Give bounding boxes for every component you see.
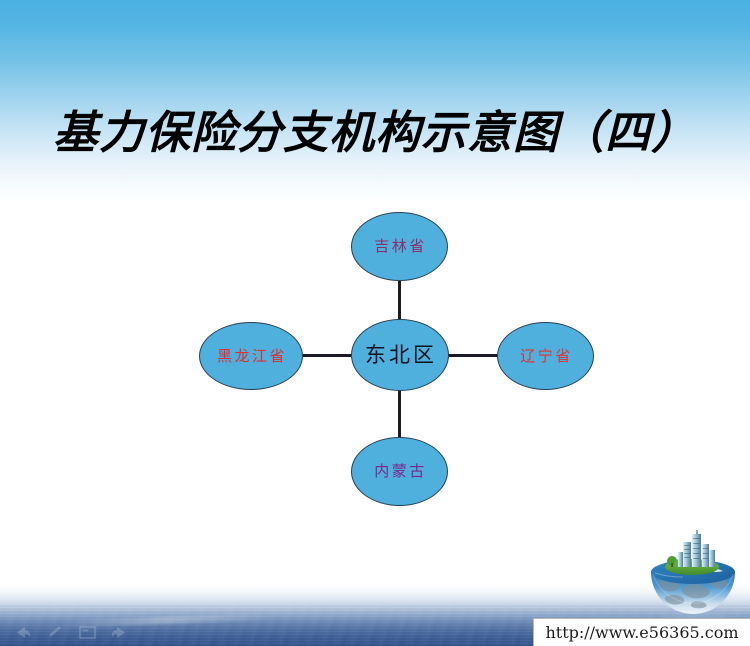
previous-slide-icon[interactable] <box>12 624 34 640</box>
slideshow-nav-controls <box>12 624 130 640</box>
watermark-bar: http://www.e56365.com <box>533 618 750 646</box>
slide-menu-icon[interactable] <box>76 624 98 640</box>
node-label-bottom: 内蒙古 <box>372 464 427 479</box>
org-diagram: 吉林省 黑龙江省 东北区 辽宁省 内蒙古 <box>0 0 750 646</box>
node-top-jilin[interactable]: 吉林省 <box>351 212 448 281</box>
node-label-left: 黑龙江省 <box>215 349 287 364</box>
node-bottom-inner-mongolia[interactable]: 内蒙古 <box>351 437 448 506</box>
node-center-northeast-region[interactable]: 东北区 <box>351 319 449 391</box>
node-label-center: 东北区 <box>363 345 437 366</box>
earth-city-globe-logo <box>645 528 741 620</box>
next-slide-icon[interactable] <box>108 624 130 640</box>
node-label-right: 辽宁省 <box>518 349 573 364</box>
node-right-liaoning[interactable]: 辽宁省 <box>497 322 594 390</box>
node-left-heilongjiang[interactable]: 黑龙江省 <box>199 322 303 390</box>
pen-icon[interactable] <box>44 624 66 640</box>
watermark-url[interactable]: http://www.e56365.com <box>545 623 738 642</box>
slide-canvas: 基力保险分支机构示意图（四） 吉林省 黑龙江省 东北区 辽宁省 内蒙古 <box>0 0 750 646</box>
node-label-top: 吉林省 <box>372 239 427 254</box>
